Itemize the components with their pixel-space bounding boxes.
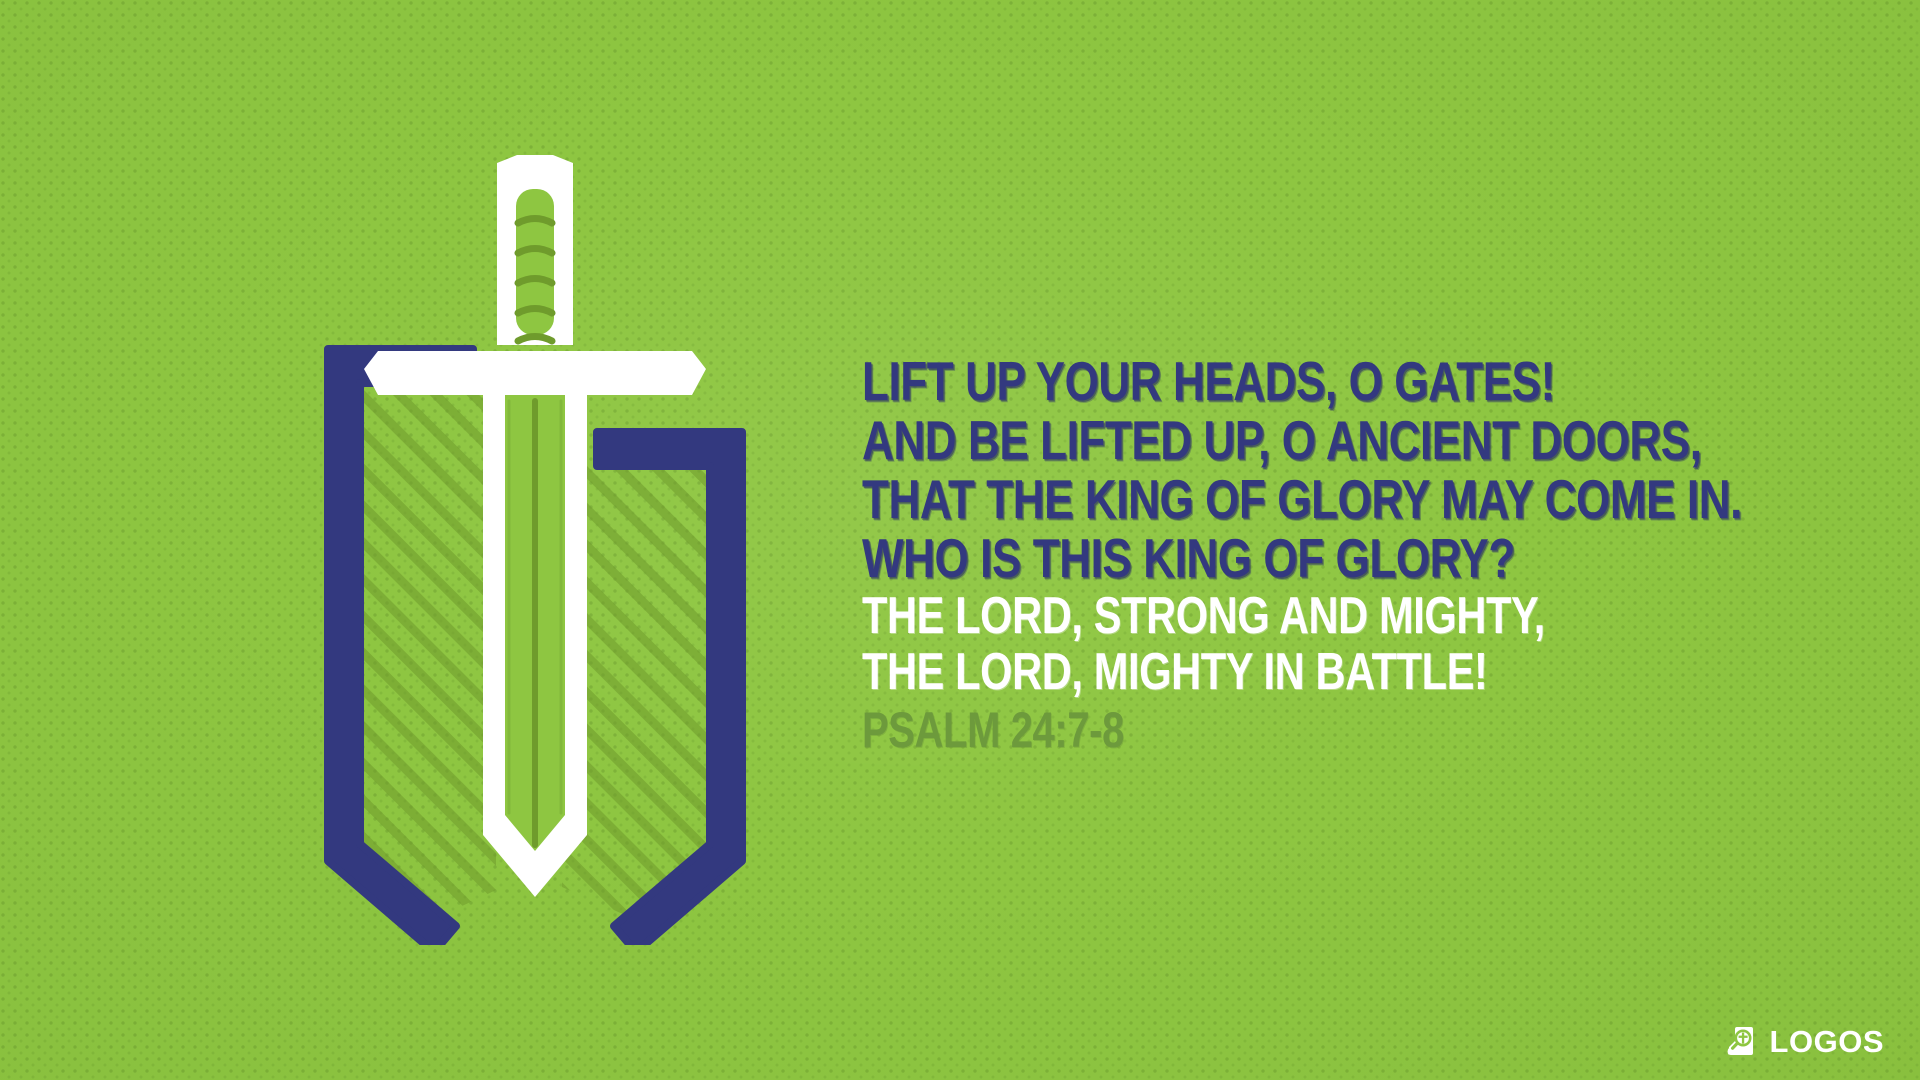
logos-document-search-cross-icon — [1727, 1024, 1761, 1058]
logos-wordmark: LOGOS — [1770, 1026, 1884, 1057]
shield-hatch-left — [346, 360, 496, 930]
sword-and-shield-emblem — [300, 155, 770, 945]
sword-crossguard — [378, 351, 692, 395]
verse-text-block: LIFT UP YOUR HEADS, O GATES! AND BE LIFT… — [862, 355, 1762, 760]
verse-line-4: WHO IS THIS KING OF GLORY? — [862, 532, 1582, 586]
verse-line-5: THE LORD, STRONG AND MIGHTY, — [862, 591, 1582, 642]
verse-reference: PSALM 24:7-8 — [862, 706, 1582, 755]
verse-line-1: LIFT UP YOUR HEADS, O GATES! — [862, 355, 1582, 409]
verse-line-6: THE LORD, MIGHTY IN BATTLE! — [862, 647, 1582, 698]
verse-line-3: THAT THE KING OF GLORY MAY COME IN. — [862, 473, 1582, 527]
verse-line-2: AND BE LIFTED UP, O ANCIENT DOORS, — [862, 414, 1582, 468]
logos-branding: LOGOS — [1727, 1024, 1884, 1058]
scripture-graphic-canvas: LIFT UP YOUR HEADS, O GATES! AND BE LIFT… — [0, 0, 1920, 1080]
